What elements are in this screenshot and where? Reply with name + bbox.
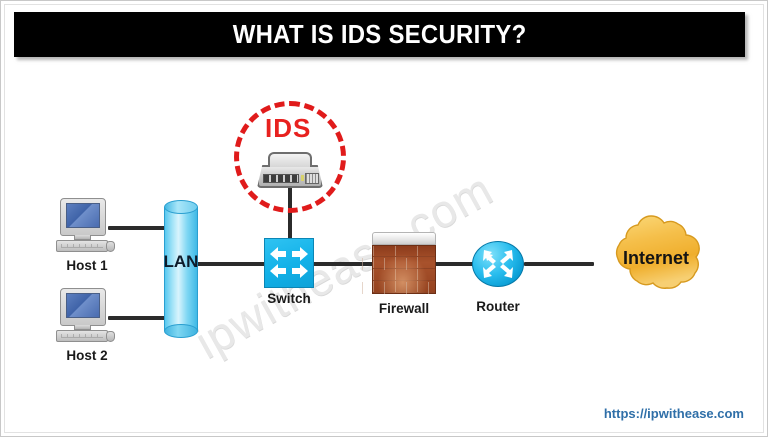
title-banner: WHAT IS IDS SECURITY? <box>14 12 745 57</box>
link-firewall-router <box>434 262 474 266</box>
ids-sensor-icon <box>257 152 323 188</box>
internet-label: Internet <box>592 248 720 269</box>
ids-device-vents <box>305 173 319 184</box>
page-title: WHAT IS IDS SECURITY? <box>233 19 527 50</box>
diagram-canvas: WHAT IS IDS SECURITY? ipwithease.com IDS… <box>0 0 768 437</box>
ids-device-led <box>301 175 304 181</box>
lan-label: LAN <box>158 252 204 272</box>
lan-cylinder-icon: LAN <box>164 200 198 336</box>
cloud-icon: Internet <box>592 214 720 306</box>
host2-label: Host 2 <box>46 348 128 363</box>
ids-device-top <box>268 152 312 167</box>
firewall-label: Firewall <box>363 301 445 316</box>
switch-label: Switch <box>248 291 330 306</box>
lan-cylinder-bottom <box>164 324 198 338</box>
monitor-screen <box>66 203 100 228</box>
link-lan-switch <box>196 262 266 266</box>
host1-label: Host 1 <box>46 258 128 273</box>
router-label: Router <box>457 299 539 314</box>
monitor-screen <box>66 293 100 318</box>
monitor-bezel <box>60 288 106 326</box>
site-url[interactable]: https://ipwithease.com <box>604 406 744 421</box>
lan-cylinder-top <box>164 200 198 214</box>
brick-wall-icon <box>372 232 436 294</box>
firewall-bricks <box>372 245 436 294</box>
ids-label: IDS <box>265 113 311 144</box>
desktop-computer-icon <box>56 198 118 254</box>
monitor-bezel <box>60 198 106 236</box>
keyboard-icon <box>56 240 108 252</box>
mouse-icon <box>106 241 115 252</box>
keyboard-icon <box>56 330 108 342</box>
switch-icon <box>264 238 314 288</box>
ids-device-ports <box>263 174 299 183</box>
link-router-internet <box>524 262 594 266</box>
mouse-icon <box>106 331 115 342</box>
firewall-cap <box>372 232 436 245</box>
router-icon <box>472 241 524 287</box>
desktop-computer-icon <box>56 288 118 344</box>
